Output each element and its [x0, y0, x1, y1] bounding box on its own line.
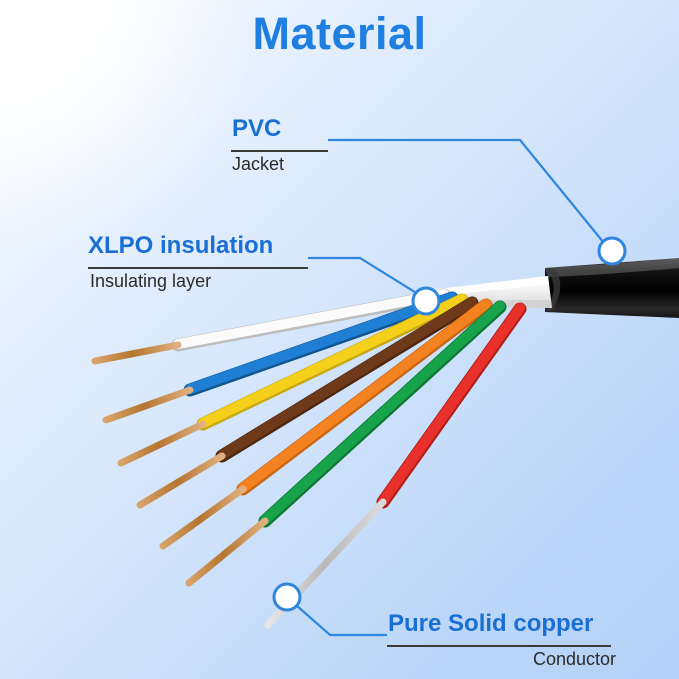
copper-sublabel: Conductor — [533, 649, 616, 670]
brown-wire — [140, 302, 472, 505]
copper-heading: Pure Solid copper — [388, 610, 593, 638]
copper-underline — [387, 645, 611, 647]
copper-marker-dot — [274, 584, 300, 610]
xlpo-underline — [88, 267, 308, 269]
page-title: Material — [0, 8, 679, 60]
pvc-heading: PVC — [232, 115, 281, 143]
cable-illustration — [0, 0, 679, 679]
callout-leader-copper — [274, 584, 387, 635]
xlpo-sublabel: Insulating layer — [90, 271, 211, 292]
pvc-jacket — [545, 258, 679, 318]
pvc-underline — [231, 150, 328, 152]
xlpo-heading: XLPO insulation — [88, 232, 273, 260]
material-diagram: Material PVC Jacket XLPO insulation Insu… — [0, 0, 679, 679]
pvc-sublabel: Jacket — [232, 154, 284, 175]
pvc-marker-dot — [599, 238, 625, 264]
callout-leader-pvc — [328, 140, 625, 264]
xlpo-marker-dot — [413, 288, 439, 314]
